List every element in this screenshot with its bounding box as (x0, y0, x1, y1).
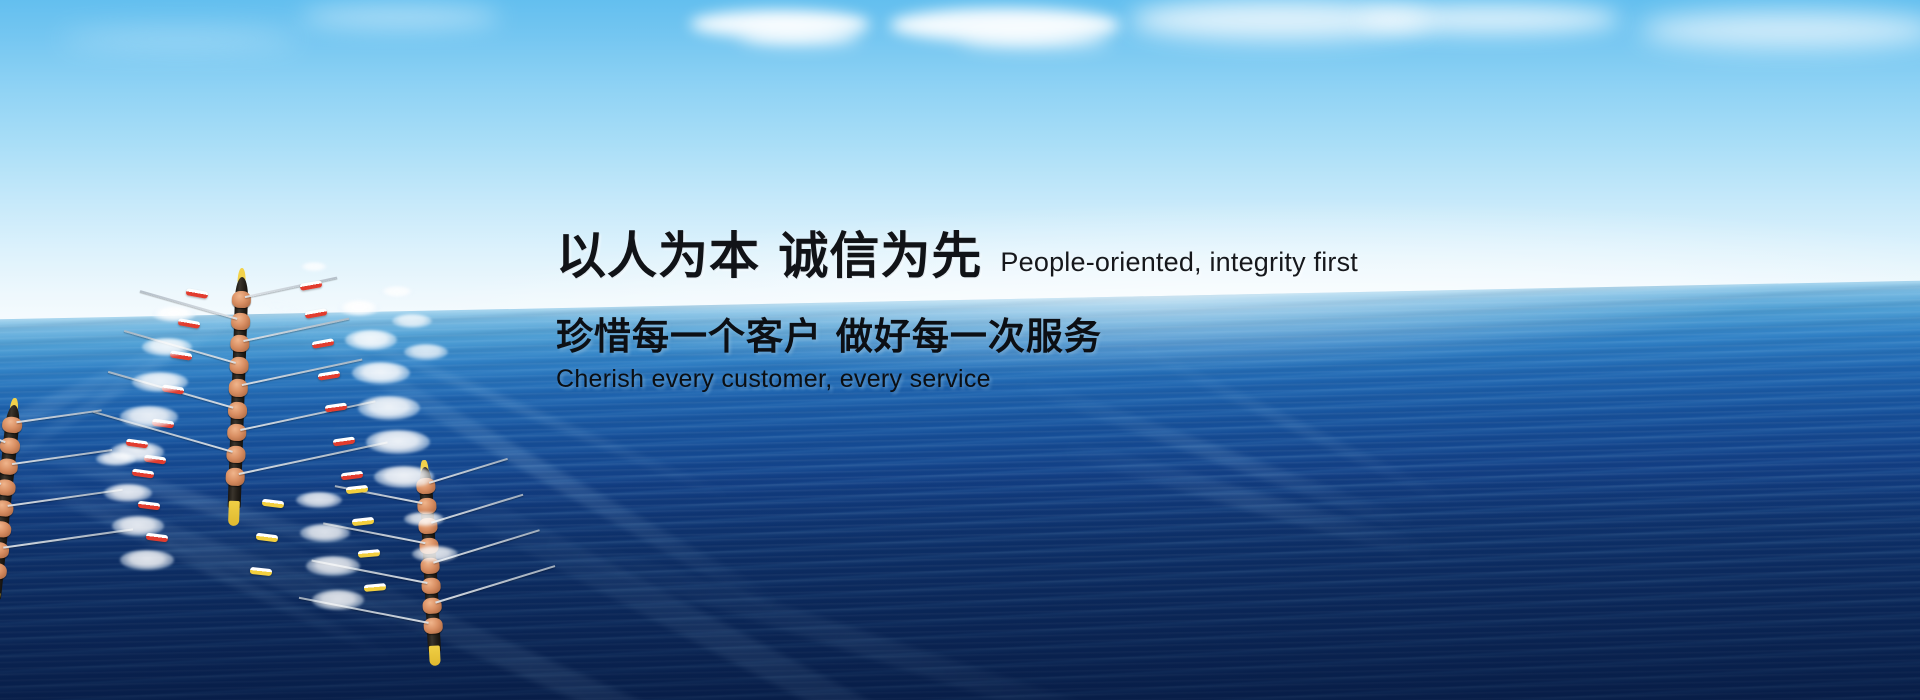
oar-splash (132, 372, 188, 392)
oar (242, 359, 363, 387)
headline-english: People-oriented, integrity first (1000, 247, 1358, 278)
oar (436, 565, 556, 604)
oar-blade (262, 499, 285, 509)
subline-chinese: 珍惜每一个客户 做好每一次服务 (556, 306, 1896, 360)
rowing-shell (0, 397, 22, 607)
oar-splash (120, 550, 174, 570)
oar-splash (96, 452, 136, 466)
oar-splash (306, 556, 360, 576)
oar-blade (352, 517, 375, 526)
oar-splash (300, 524, 350, 542)
rower (421, 577, 441, 594)
oar-splash (412, 546, 458, 562)
oar-splash (366, 430, 430, 454)
rower (0, 499, 14, 517)
rower (232, 290, 251, 308)
oar-splash (296, 492, 342, 508)
oar-splash (152, 306, 196, 322)
oar-blade (325, 403, 348, 413)
oar-blade (318, 370, 341, 380)
oar-splash (392, 314, 432, 328)
shell-stern (228, 500, 241, 525)
headline-row: 以人为本 诚信为先 People-oriented, integrity fir… (556, 228, 1896, 284)
oar-splash (380, 286, 414, 298)
rower (226, 446, 245, 464)
oar-splash (345, 330, 397, 350)
rower (228, 401, 247, 419)
oar-splash (404, 512, 444, 526)
boat-wake (1053, 435, 1443, 564)
oar-splash (312, 590, 364, 610)
rower (0, 541, 10, 559)
rowing-shell (227, 268, 249, 518)
oar-splash (404, 344, 448, 360)
banner-copy: 以人为本 诚信为先 People-oriented, integrity fir… (556, 228, 1896, 394)
oar-splash (300, 262, 328, 272)
rower (229, 379, 248, 397)
rower (0, 520, 12, 538)
oar-splash (104, 484, 152, 502)
oar (245, 276, 337, 297)
subline-english: Cherish every customer, every service (556, 365, 1896, 394)
oar (429, 458, 508, 484)
oar-splash (142, 338, 192, 356)
rower (0, 562, 8, 580)
oar-splash (358, 396, 420, 420)
headline-chinese: 以人为本 诚信为先 (556, 228, 982, 284)
oar-blade (300, 280, 323, 291)
rower (226, 468, 245, 486)
rower (227, 423, 246, 441)
rower (230, 335, 249, 353)
hero-banner: 以人为本 诚信为先 People-oriented, integrity fir… (0, 0, 1920, 700)
oar-splash (352, 362, 410, 384)
rower (231, 312, 250, 330)
boat-wake (516, 521, 1189, 700)
oar-blade (186, 288, 209, 299)
rower (229, 357, 248, 375)
oar-blade (138, 501, 161, 511)
shell-stern (428, 645, 441, 666)
oar-splash (374, 466, 434, 488)
oar-splash (338, 300, 380, 316)
oar-splash (120, 406, 178, 428)
oar-blade (341, 471, 364, 481)
oar (3, 528, 133, 548)
rower (423, 617, 443, 634)
